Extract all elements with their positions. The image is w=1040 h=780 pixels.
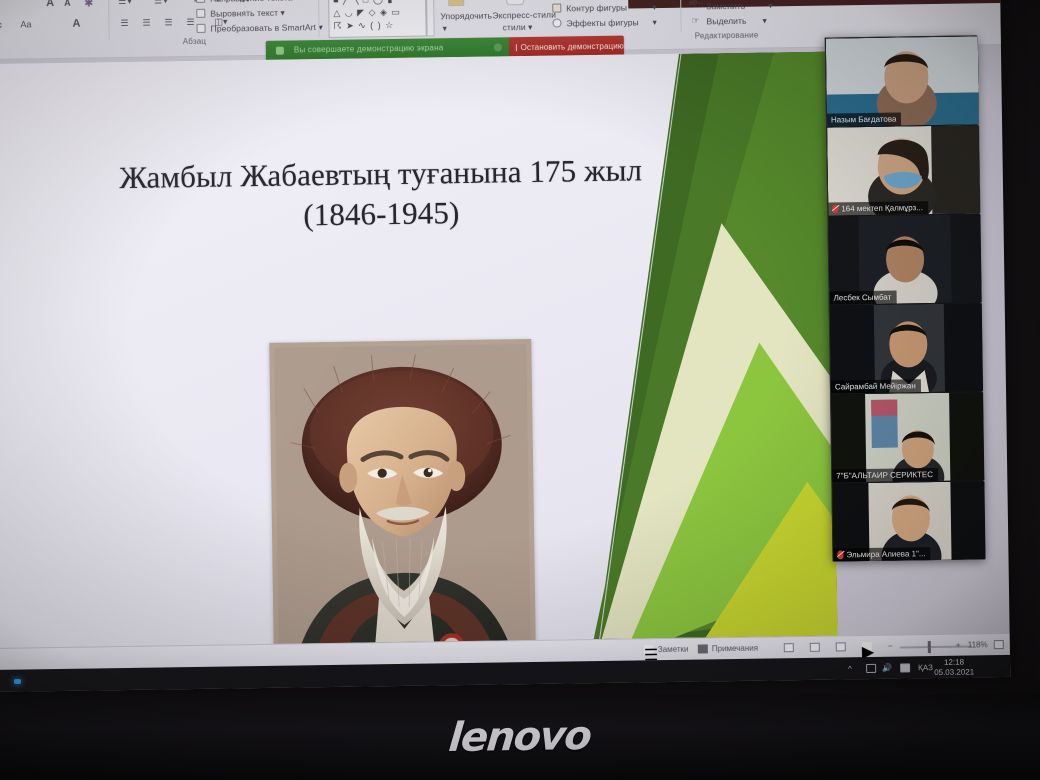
zoom-in-button[interactable]: + xyxy=(956,641,961,650)
shape-outline-label[interactable]: Контур фигуры xyxy=(566,3,627,14)
participant-name-label: Лесбек Сымбат xyxy=(830,291,897,305)
participant-tile[interactable]: Назым Бағдатова xyxy=(826,36,979,126)
convert-smartart-label[interactable]: Преобразовать в SmartArt ▾ xyxy=(210,22,322,35)
shape-effects-icon[interactable] xyxy=(552,18,561,27)
replace-dropdown-icon[interactable]: ▾ xyxy=(768,0,773,11)
replace-label[interactable]: Заменить xyxy=(706,1,745,12)
bullet-list-icon[interactable]: ☰▾ xyxy=(118,0,133,7)
notes-icon[interactable]: ☰ xyxy=(644,645,654,654)
select-label[interactable]: Выделить xyxy=(706,16,746,27)
fit-slide-icon[interactable] xyxy=(994,640,1004,649)
comments-icon[interactable] xyxy=(698,644,708,653)
numbered-list-icon[interactable]: ☰▾ xyxy=(154,0,169,7)
cursor-select-icon[interactable]: ☞ xyxy=(691,15,699,26)
stop-share-label: Остановить демонстрацию xyxy=(521,41,624,52)
power-led xyxy=(14,679,21,684)
participant-name-label: Назым Бағдатова xyxy=(827,112,902,126)
align-text-label[interactable]: Выровнять текст ▾ xyxy=(210,8,285,20)
align-center-icon[interactable]: ☰ xyxy=(142,18,150,29)
participant-name-label: 7"Б"АЛЬТАИР СЕРИКТЕС xyxy=(832,468,938,483)
quick-styles-sub[interactable]: стили ▾ xyxy=(503,22,533,33)
grow-font-icon[interactable]: A xyxy=(46,0,54,9)
zoom-slider-knob[interactable] xyxy=(928,641,931,653)
pause-share-button[interactable] xyxy=(494,43,502,51)
slideshow-icon[interactable]: ▶ xyxy=(862,642,872,651)
taskbar-clock[interactable]: 12:18 05.03.2021 xyxy=(934,657,974,678)
zoom-slider-track[interactable] xyxy=(900,645,972,648)
app-tray-icon[interactable] xyxy=(900,663,910,672)
shape-outline-dropdown-icon[interactable]: ▾ xyxy=(652,2,657,13)
slide-title[interactable]: Жамбыл Жабаевтың туғанына 175 жыл (1846-… xyxy=(30,149,731,239)
network-icon[interactable] xyxy=(866,664,876,673)
strikethrough-icon[interactable]: abc xyxy=(0,20,2,30)
normal-view-icon[interactable] xyxy=(784,643,794,652)
align-right-icon[interactable]: ☰ xyxy=(164,17,172,28)
share-message: Вы совершаете демонстрацию экрана xyxy=(294,43,444,54)
select-dropdown-icon[interactable]: ▾ xyxy=(762,15,767,26)
participant-tile[interactable]: Сайрамбай Мейіржан xyxy=(830,303,983,393)
participant-tile[interactable]: 164 мектеп Қалмұрз... xyxy=(827,125,980,215)
ribbon-text-direction-column: Найти Направление текста ▾ Выровнять тек… xyxy=(188,0,319,43)
ribbon-account-bar: Вход Общий доступ xyxy=(628,0,1000,9)
reading-view-icon[interactable] xyxy=(836,642,846,651)
slide-canvas[interactable]: Жамбыл Жабаевтың туғанына 175 жыл (1846-… xyxy=(0,52,838,648)
stop-icon xyxy=(516,44,517,51)
lenovo-logo: lenovo xyxy=(447,713,593,761)
participant-tile[interactable]: Лесбек Сымбат xyxy=(828,214,981,304)
ribbon-group-label-editing: Редактирование xyxy=(695,31,759,41)
ribbon-group-drawing: ■ ╱ ╲ □ ◯ ▮ △ ◡ ◤ ◇ ◈ ▭ ☈ ➤ ∿ ( ) ☆ xyxy=(326,0,437,41)
change-case-icon[interactable]: Aa xyxy=(20,19,31,29)
language-indicator[interactable]: ҚАЗ xyxy=(918,663,933,672)
clock-date: 05.03.2021 xyxy=(934,667,974,678)
slide-title-line-1: Жамбыл Жабаевтың туғанына 175 жыл xyxy=(119,152,642,195)
photo-of-monitor: Вход Общий доступ A A ✱ abc Aa A ☰▾ ☰▾ ⇤… xyxy=(0,0,1040,780)
ribbon-shape-format-column: Заливка фигуры ▾ Контур фигуры ▾ Эффекты… xyxy=(548,0,673,38)
clear-formatting-icon[interactable]: ✱ xyxy=(84,0,93,10)
video-conference-panel[interactable]: Назым Бағдатова 164 мектеп Қалмұрз... xyxy=(825,35,985,561)
arrange-dropdown-icon[interactable]: ▾ xyxy=(443,23,448,34)
volume-icon[interactable]: 🔊 xyxy=(882,664,892,673)
ribbon-group-editing: 🔍 Найти ab↔ Заменить ▾ ☞ Выделить ▾ Реда… xyxy=(688,0,805,36)
participant-name-label: Сайрамбай Мейіржан xyxy=(831,379,921,393)
shape-effects-dropdown-icon[interactable]: ▾ xyxy=(652,17,657,28)
smartart-icon[interactable] xyxy=(196,24,205,33)
align-text-icon[interactable] xyxy=(196,9,205,18)
ribbon-group-font: A A ✱ abc Aa A xyxy=(0,0,107,46)
zoom-level-label[interactable]: 118% xyxy=(968,640,988,649)
muted-mic-icon xyxy=(837,550,843,559)
shapes-gallery[interactable]: ■ ╱ ╲ □ ◯ ▮ △ ◡ ◤ ◇ ◈ ▭ ☈ ➤ ∿ ( ) ☆ xyxy=(328,0,427,38)
portrait-image[interactable] xyxy=(269,339,536,648)
align-left-icon[interactable]: ☰ xyxy=(120,18,128,29)
monitor-chin: lenovo xyxy=(0,694,1040,780)
replace-icon[interactable]: ab↔ xyxy=(689,0,704,7)
sharing-indicator-icon xyxy=(276,47,284,55)
monitor-screen: Вход Общий доступ A A ✱ abc Aa A ☰▾ ☰▾ ⇤… xyxy=(0,0,1010,692)
quick-styles-label[interactable]: Экспресс-стили xyxy=(492,10,556,21)
shapes-gallery-scrollbar[interactable] xyxy=(426,0,435,36)
muted-mic-icon xyxy=(832,204,838,213)
participant-tile[interactable]: 7"Б"АЛЬТАИР СЕРИКТЕС xyxy=(831,392,984,482)
font-color-icon[interactable]: A xyxy=(72,18,80,30)
arrange-icon[interactable] xyxy=(448,0,464,6)
shape-outline-icon[interactable] xyxy=(552,3,561,12)
text-direction-text[interactable]: Направление текста ▾ xyxy=(210,0,299,5)
arrange-label[interactable]: Упорядочить xyxy=(440,11,492,22)
comments-button[interactable]: Примечания xyxy=(712,644,758,654)
participant-tile[interactable]: Эльмира Алиева 1"... xyxy=(832,481,985,561)
shrink-font-icon[interactable]: A xyxy=(64,0,71,8)
zoom-out-button[interactable]: − xyxy=(888,642,893,651)
ribbon-arrange-quickstyles: Упорядочить ▾ Экспресс-стили стили ▾ xyxy=(440,0,551,39)
chevron-up-icon[interactable]: ^ xyxy=(848,664,852,673)
shape-effects-label[interactable]: Эффекты фигуры xyxy=(566,17,638,28)
participant-name-label: 164 мектеп Қалмұрз... xyxy=(828,201,928,215)
quick-styles-icon[interactable] xyxy=(506,0,524,5)
notes-button[interactable]: Заметки xyxy=(658,645,689,654)
participant-name-label: Эльмира Алиева 1"... xyxy=(833,547,930,561)
clock-time: 12:18 xyxy=(934,657,974,668)
slide-decoration-shapes xyxy=(569,52,838,640)
text-direction-icon[interactable] xyxy=(196,0,205,3)
slide-sorter-icon[interactable] xyxy=(810,643,820,652)
